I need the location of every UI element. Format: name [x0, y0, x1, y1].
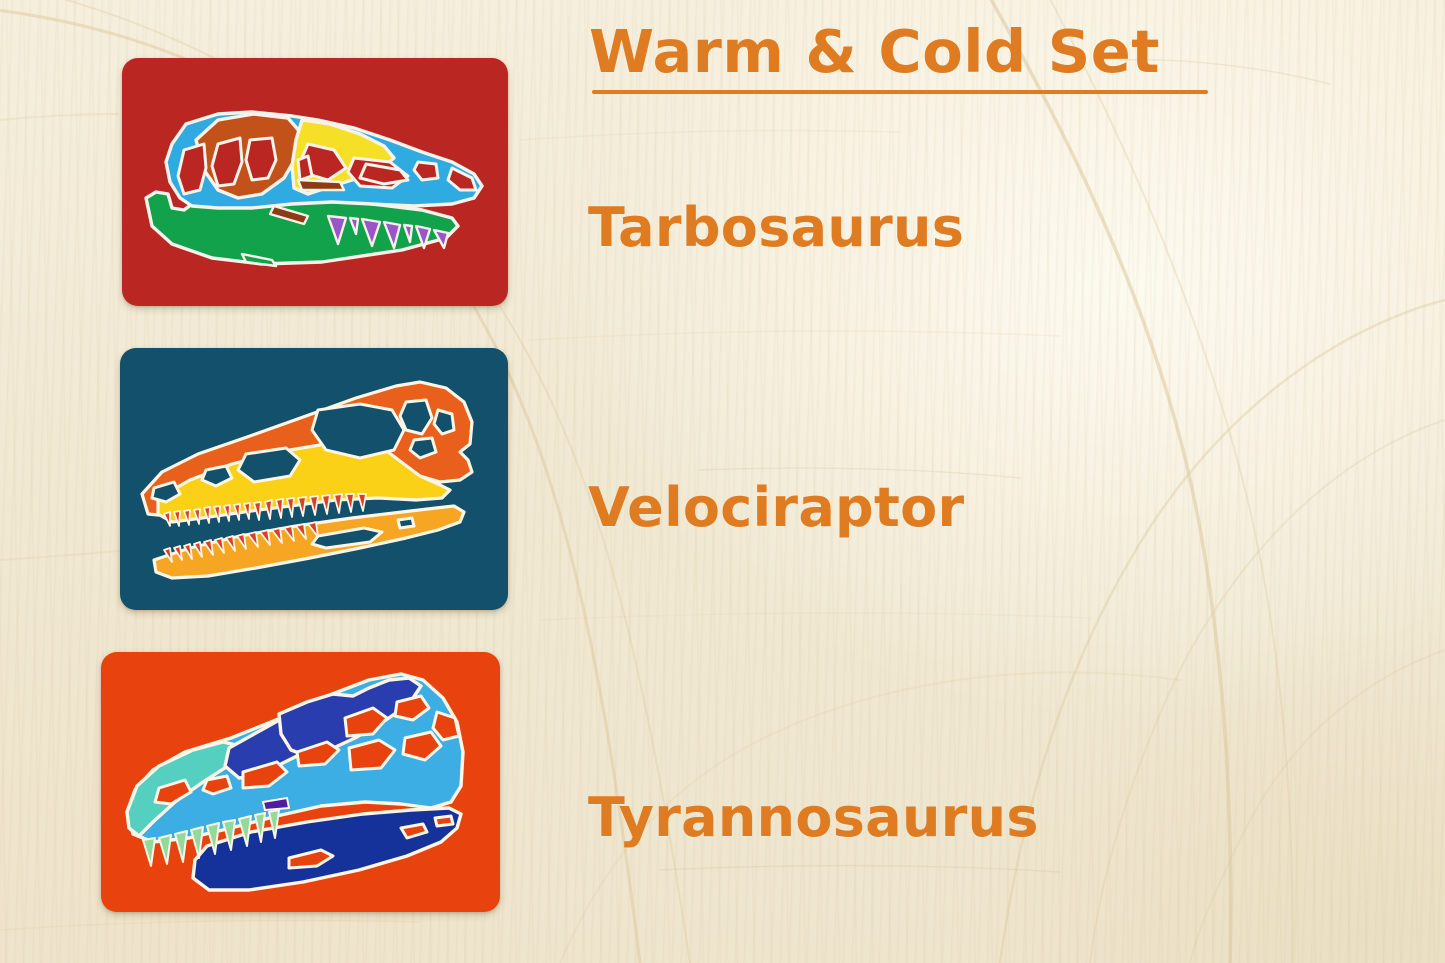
card-label-tyrannosaurus: Tyrannosaurus — [588, 786, 1039, 849]
velociraptor-skull-artwork — [120, 348, 508, 610]
puzzle-card-velociraptor[interactable] — [120, 348, 508, 610]
card-label-tarbosaurus: Tarbosaurus — [588, 196, 964, 259]
tarbosaurus-skull-artwork — [122, 58, 508, 306]
title-underline — [592, 90, 1208, 94]
puzzle-card-tarbosaurus[interactable] — [122, 58, 508, 306]
tyrannosaurus-skull-artwork — [101, 652, 500, 912]
card-label-velociraptor: Velociraptor — [588, 476, 964, 539]
page-title: Warm & Cold Set — [589, 17, 1160, 86]
puzzle-card-tyrannosaurus[interactable] — [101, 652, 500, 912]
product-photo: Warm & Cold Set — [0, 0, 1445, 963]
